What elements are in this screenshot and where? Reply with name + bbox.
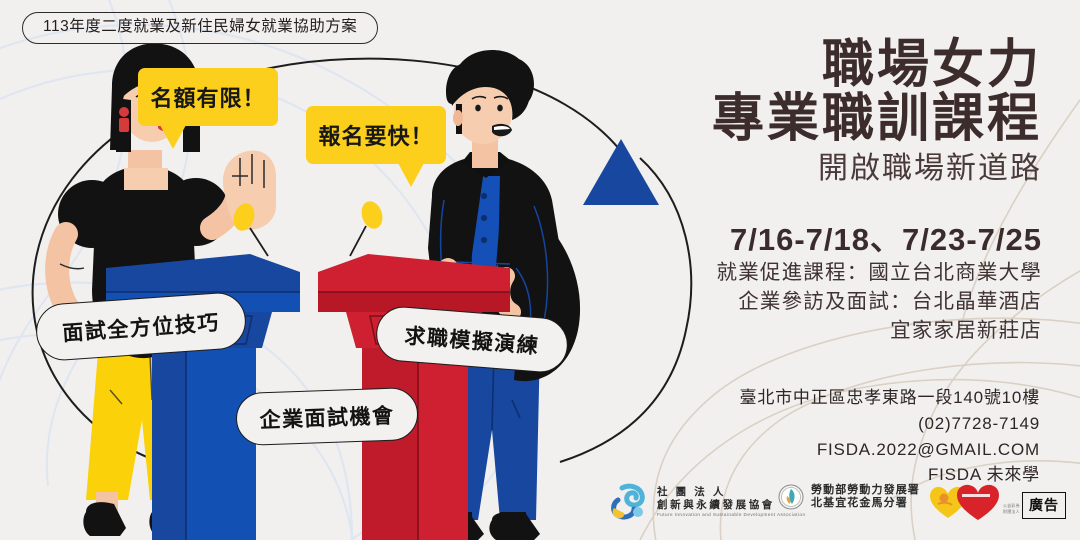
wda-emblem-icon <box>778 484 804 510</box>
schedule-venue-1: 就業促進課程：國立台北商業大學 <box>572 258 1042 287</box>
lottery-subcaption: 財團法人 <box>1003 509 1020 515</box>
wda-logo-line-2: 北基宜花金馬分署 <box>811 497 920 510</box>
schedule-block: 7/16-7/18、7/23-7/25 就業促進課程：國立台北商業大學 企業參訪… <box>572 222 1042 345</box>
program-badge: 113年度二度就業及新住民婦女就業協助方案 <box>22 12 378 44</box>
contact-phone[interactable]: (02)7728-7149 <box>570 411 1040 437</box>
topic-pill-interview-chance: 企業面試機會 <box>235 387 419 446</box>
headline-subtitle: 開啟職場新道路 <box>572 150 1042 188</box>
fisda-logo-line-3: Future Innovation and Sustainable Develo… <box>657 512 805 517</box>
callout-tail-icon <box>398 163 424 187</box>
headline-block: 職場女力 專業職訓課程 開啟職場新道路 <box>572 38 1042 188</box>
schedule-venue-2: 企業參訪及面試：台北晶華酒店 <box>572 287 1042 316</box>
callout-tail-icon <box>160 125 186 149</box>
headline-line-1: 職場女力 <box>572 38 1042 92</box>
callout-sign-up-fast-label: 報名要快！ <box>318 119 433 151</box>
twin-heart-icon <box>928 482 1002 524</box>
callout-limited-quota-label: 名額有限！ <box>150 81 265 113</box>
fisda-mark-icon <box>608 482 650 522</box>
contact-block: 臺北市中正區忠孝東路一段140號10樓 (02)7728-7149 FISDA.… <box>570 385 1040 488</box>
contact-address: 臺北市中正區忠孝東路一段140號10樓 <box>570 385 1040 411</box>
ad-label-wrapper: 廣告 <box>1022 492 1066 519</box>
topic-pill-mock-practice-label: 求職模擬演練 <box>404 319 541 359</box>
schedule-dates: 7/16-7/18、7/23-7/25 <box>572 222 1042 258</box>
wda-logo: 勞動部勞動力發展署 北基宜花金馬分署 <box>778 484 920 510</box>
headline-line-2: 專業職訓課程 <box>572 92 1042 146</box>
fisda-logo: 社 團 法 人 創新與永續發展協會 Future Innovation and … <box>608 482 805 522</box>
lottery-heart-logo: 公益彩券 財團法人 <box>928 482 1020 524</box>
ad-label: 廣告 <box>1022 492 1066 519</box>
schedule-venue-3: 宜家家居新莊店 <box>572 316 1042 345</box>
callout-limited-quota: 名額有限！ <box>138 68 278 126</box>
callout-sign-up-fast: 報名要快！ <box>306 106 446 164</box>
footer-logo-row: 社 團 法 人 創新與永續發展協會 Future Innovation and … <box>0 478 1080 534</box>
topic-pill-interview-chance-label: 企業面試機會 <box>259 399 395 434</box>
topic-pill-interview-skills-label: 面試全方位技巧 <box>61 306 220 347</box>
wda-logo-line-1: 勞動部勞動力發展署 <box>811 484 920 497</box>
poster-canvas: 113年度二度就業及新住民婦女就業協助方案 名額有限！ 報名要快！ 面試全方位技… <box>0 0 1080 540</box>
contact-email[interactable]: FISDA.2022@GMAIL.COM <box>570 437 1040 463</box>
